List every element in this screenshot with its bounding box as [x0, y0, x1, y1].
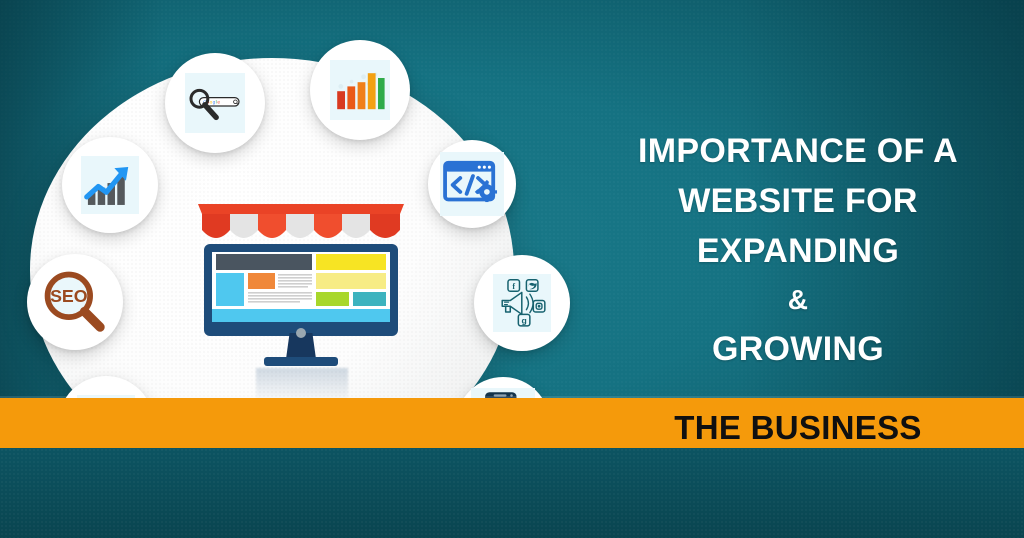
monitor-power-dot: [294, 326, 308, 340]
growth-chart-icon[interactable]: [62, 137, 158, 233]
monitor-stand-base: [264, 357, 338, 366]
rising-arrow-bars-glyph: [81, 156, 139, 214]
megaphone-social-glyph: f g: [493, 274, 551, 332]
bar-chart-glyph: [330, 60, 390, 120]
headline-line-2: WEBSITE FOR: [596, 182, 1000, 220]
headline-line-5: GROWING: [596, 330, 1000, 368]
headline-line-6: THE BUSINESS: [596, 409, 1000, 447]
svg-text:SEO: SEO: [51, 287, 89, 307]
svg-text:e: e: [217, 101, 220, 106]
svg-text:l: l: [216, 100, 217, 106]
shop-awning: [196, 200, 406, 252]
footer-dot-texture: [0, 448, 1024, 538]
headline-line-3: EXPANDING: [596, 232, 1000, 270]
website-layout-graphic: [212, 252, 390, 322]
code-window-icon[interactable]: [428, 140, 516, 228]
banner-canvas: G o o g l e: [0, 0, 1024, 538]
browser-code-gear-glyph: [440, 152, 503, 215]
svg-text:f: f: [513, 282, 516, 291]
online-store-monitor: [196, 200, 406, 380]
headline-ampersand: &: [596, 284, 1000, 315]
seo-magnifier-glyph: SEO: [39, 266, 110, 337]
monitor-screen: [212, 252, 390, 322]
search-icon[interactable]: G o o g l e: [165, 53, 265, 153]
headline-line-1: IMPORTANCE OF A: [596, 132, 1000, 170]
analytics-icon[interactable]: [310, 40, 410, 140]
social-media-icon[interactable]: f g: [474, 255, 570, 351]
seo-icon[interactable]: SEO: [27, 254, 123, 350]
page-title: IMPORTANCE OF A WEBSITE FOR EXPANDING & …: [596, 132, 1000, 368]
magnifier-search-bar-glyph: G o o g l e: [185, 73, 245, 133]
svg-text:g: g: [522, 316, 527, 326]
